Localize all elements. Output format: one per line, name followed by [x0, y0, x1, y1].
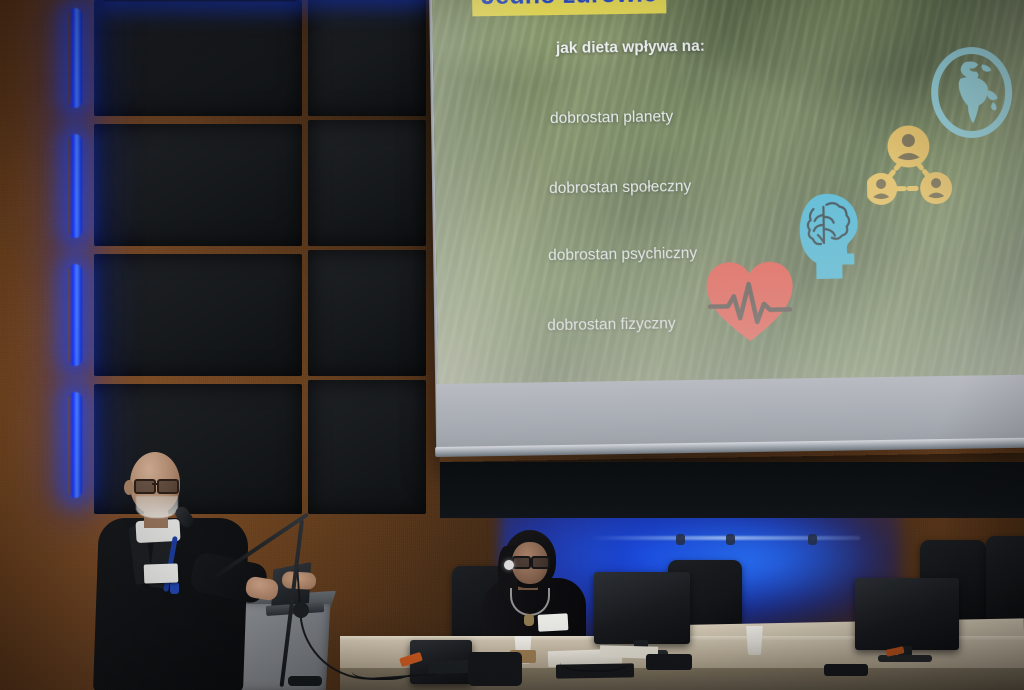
- led-strip: [68, 8, 82, 108]
- speaker-beard: [136, 496, 178, 518]
- led-strip: [68, 392, 82, 498]
- led-strip-top: [100, 0, 300, 1]
- desk-monitor-left: [594, 572, 690, 644]
- desk-monitor-right: [855, 578, 959, 650]
- heart-pulse-icon: [703, 259, 796, 349]
- slide-surface: Jedno zdrowie jak dieta wpływa na: dobro…: [432, 0, 1024, 387]
- slide-bullet-physical: dobrostan fizyczny: [547, 315, 676, 335]
- rail-post: [726, 534, 735, 545]
- rail-post: [808, 534, 817, 545]
- wall-rail: [590, 536, 860, 540]
- operator-earring: [504, 560, 514, 570]
- bag-on-desk: [468, 652, 522, 686]
- device-on-desk: [646, 654, 692, 670]
- acoustic-panel: [308, 380, 426, 514]
- speaker-lanyard-clip: [170, 582, 179, 594]
- slide-bullet-planet: dobrostan planety: [550, 108, 674, 128]
- led-strip: [68, 264, 82, 366]
- operator-glasses: [512, 556, 548, 566]
- screenshot-root: Jedno zdrowie jak dieta wpływa na: dobro…: [0, 0, 1024, 690]
- acoustic-panel: [308, 250, 426, 376]
- acoustic-panel: [94, 124, 302, 246]
- rail-post: [676, 534, 685, 545]
- operator-name-badge: [538, 613, 569, 632]
- chair: [986, 536, 1024, 630]
- speaker-at-lectern: [96, 452, 276, 690]
- device-on-desk: [824, 664, 868, 676]
- slide-bullet-mental: dobrostan psychiczny: [548, 245, 697, 265]
- brain-head-icon: [793, 190, 865, 288]
- operator-pendant: [524, 614, 534, 626]
- people-network-icon: [866, 124, 953, 212]
- desk-cable: [560, 648, 630, 672]
- speaker-glasses: [134, 479, 178, 491]
- acoustic-panel: [308, 120, 426, 246]
- slide-subtitle: jak dieta wpływa na:: [556, 38, 705, 58]
- microphone-base: [288, 676, 322, 686]
- microphone-clip: [293, 602, 309, 618]
- acoustic-panel: [94, 254, 302, 376]
- acoustic-panel: [94, 0, 302, 116]
- wall-shadow-band: [440, 462, 1024, 518]
- slide-bullet-social: dobrostan społeczny: [549, 178, 691, 198]
- projection-screen: Jedno zdrowie jak dieta wpływa na: dobro…: [432, 0, 1024, 462]
- coffee-cup: [745, 626, 764, 655]
- led-strip: [68, 134, 82, 238]
- speaker-ear: [124, 480, 134, 495]
- speaker-name-badge: [144, 563, 179, 583]
- acoustic-panel: [308, 0, 426, 116]
